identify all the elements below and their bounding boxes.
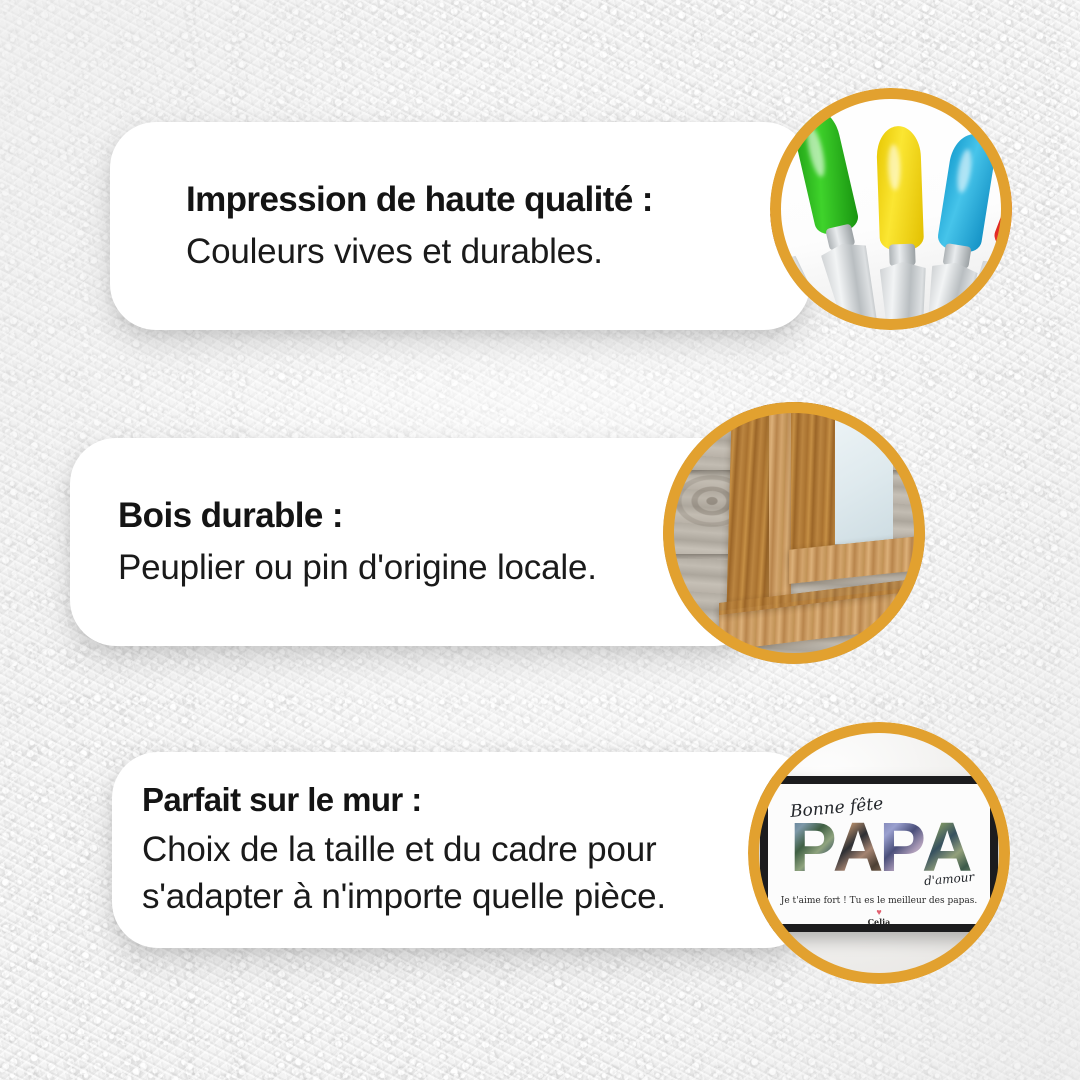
feature-image-wall: Bonne fête P A P [748, 722, 1010, 984]
feature-body-wall-line2: s'adapter à n'importe quelle pièce. [142, 876, 812, 917]
papa-letter-a1: A [833, 819, 884, 876]
feature-list-page: Impression de haute qualité : Couleurs v… [0, 0, 1080, 1080]
poster-heart-icon: ♥ [876, 908, 881, 917]
feature-title-wall: Parfait sur le mur : [142, 782, 812, 819]
papa-letter-p1: P [790, 819, 837, 876]
framed-poster-photo: Bonne fête P A P [748, 722, 1010, 984]
poster-sheet: Bonne fête P A P [768, 784, 990, 924]
poster-signature: Celia [768, 917, 990, 924]
papa-letter-p2: P [879, 819, 926, 876]
poster-black-frame: Bonne fête P A P [760, 776, 998, 932]
poster-papa-collage: P A P A [790, 814, 973, 876]
feature-row-wall: Parfait sur le mur : Choix de la taille … [0, 0, 1080, 1080]
poster-caption: Je t'aime fort ! Tu es le meilleur des p… [768, 896, 990, 906]
papa-letter-a2: A [922, 819, 973, 876]
feature-body-wall-line1: Choix de la taille et du cadre pour [142, 829, 812, 870]
feature-card-wall[interactable]: Parfait sur le mur : Choix de la taille … [112, 752, 812, 948]
